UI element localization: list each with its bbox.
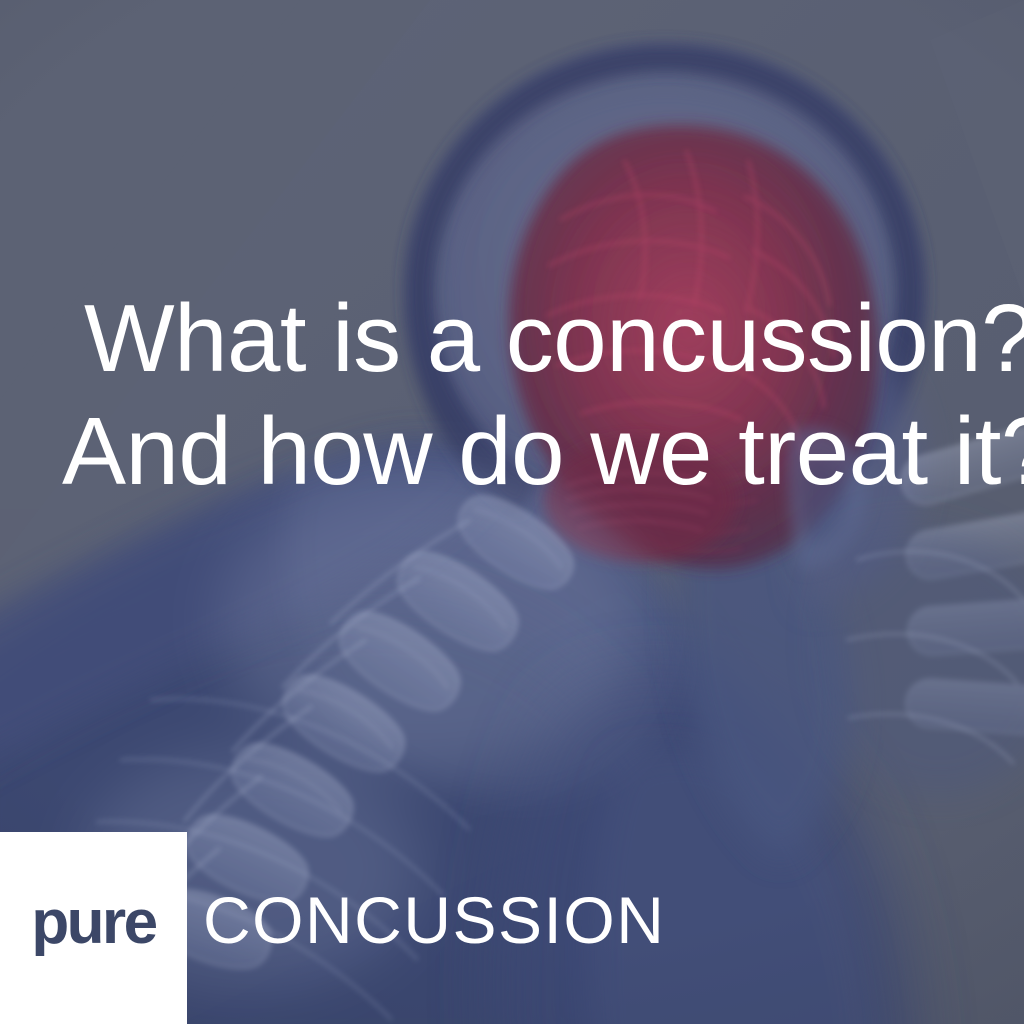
logo-wordmark-text: CONCUSSION bbox=[203, 887, 665, 953]
page-title: What is a concussion? And how do we trea… bbox=[62, 282, 992, 508]
headline-line-2: And how do we treat it? bbox=[62, 395, 992, 508]
brand-logo[interactable]: pure CONCUSSION bbox=[0, 832, 665, 1024]
logo-mark-box: pure bbox=[0, 832, 187, 1024]
poster-canvas: What is a concussion? And how do we trea… bbox=[0, 0, 1024, 1024]
headline-line-1: What is a concussion? bbox=[62, 282, 992, 395]
logo-mark-text: pure bbox=[31, 892, 155, 954]
logo-wordmark-box: CONCUSSION bbox=[187, 832, 665, 1024]
